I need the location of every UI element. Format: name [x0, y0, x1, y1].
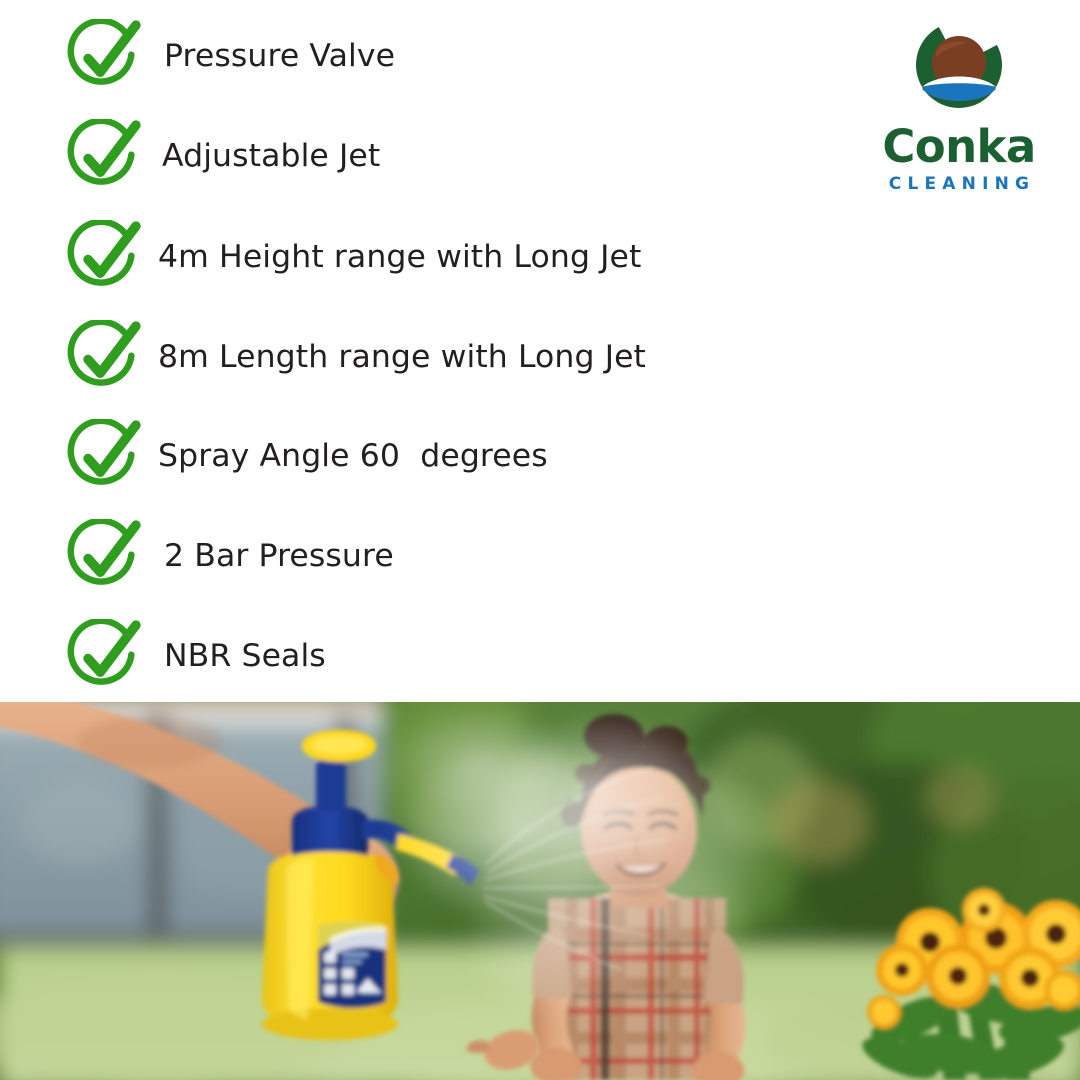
conka-c-logo-icon: [866, 16, 1052, 120]
feature-label: Spray Angle 60 degrees: [158, 441, 548, 473]
feature-item: Adjustable Jet: [66, 118, 380, 196]
feature-item: 8m Length range with Long Jet: [66, 319, 646, 397]
logo-wordmark: Conka: [866, 124, 1052, 169]
feature-label: 8m Length range with Long Jet: [158, 342, 646, 374]
feature-item: NBR Seals: [66, 618, 326, 696]
feature-item: 4m Height range with Long Jet: [66, 219, 642, 297]
feature-item: Spray Angle 60 degrees: [66, 418, 548, 496]
check-circle-icon: [66, 419, 142, 495]
check-circle-icon: [66, 619, 142, 695]
poster-canvas: Pressure Valve Adjustable Jet 4m Height …: [0, 0, 1080, 1080]
check-circle-icon: [66, 320, 142, 396]
feature-label: NBR Seals: [164, 641, 326, 673]
feature-label: 2 Bar Pressure: [164, 541, 394, 573]
logo-tagline: CLEANING: [866, 176, 1052, 193]
feature-label: Adjustable Jet: [162, 141, 380, 173]
check-circle-icon: [66, 119, 142, 195]
check-circle-icon: [66, 220, 142, 296]
feature-item: Pressure Valve: [66, 18, 395, 96]
check-circle-icon: [66, 19, 142, 95]
brand-logo: Conka CLEANING: [866, 16, 1052, 193]
feature-label: 4m Height range with Long Jet: [158, 242, 642, 274]
feature-item: 2 Bar Pressure: [66, 518, 394, 596]
product-lifestyle-photo: Adult hand holding a yellow and blue pre…: [0, 702, 1080, 1080]
check-circle-icon: [66, 519, 142, 595]
feature-label: Pressure Valve: [164, 41, 395, 73]
